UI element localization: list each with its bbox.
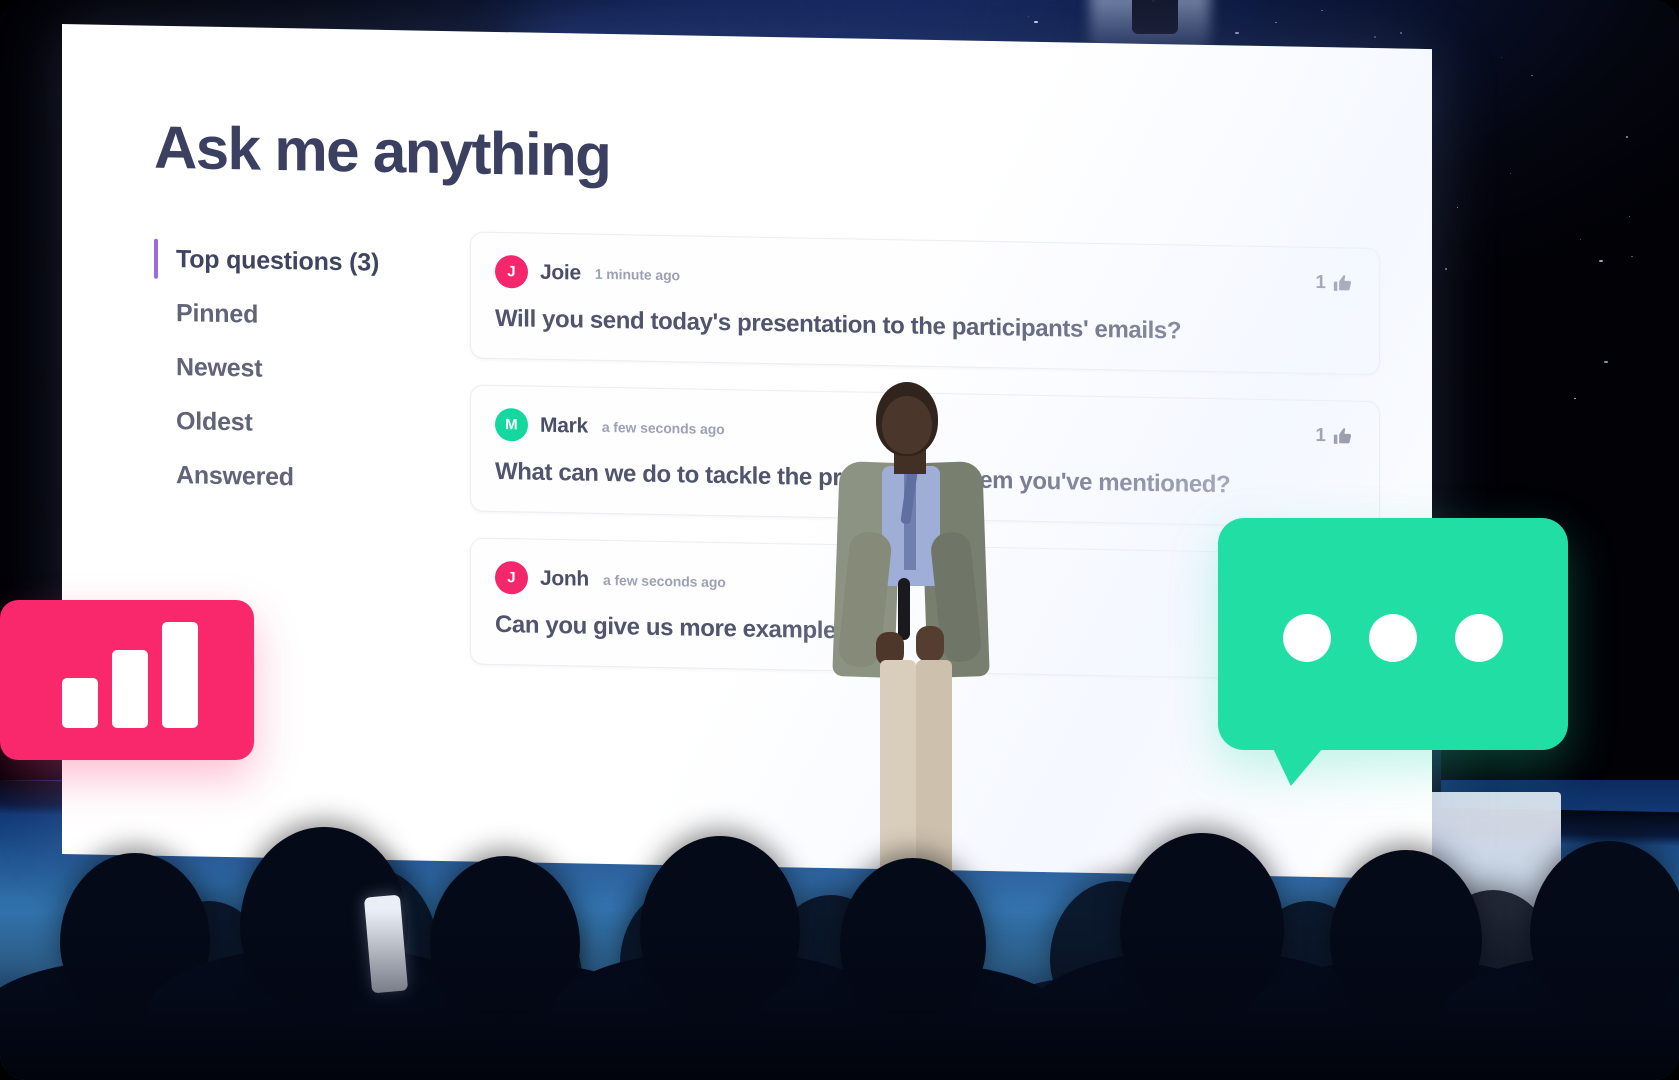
star	[1510, 173, 1511, 174]
star	[1374, 36, 1376, 37]
bar-chart-badge[interactable]	[0, 600, 254, 760]
chart-bar	[162, 622, 198, 728]
avatar: M	[495, 408, 528, 442]
star	[1034, 21, 1038, 23]
star	[1531, 75, 1533, 76]
filter-item-pinned[interactable]: Pinned	[154, 286, 414, 345]
upvote-count: 1	[1315, 272, 1326, 294]
upvote-button[interactable]: 1	[1315, 272, 1353, 295]
speaker-hand-right	[916, 626, 944, 662]
foreground-shadow	[0, 910, 1679, 1080]
star	[1457, 207, 1459, 208]
projection-screen: Ask me anything Top questions (3)PinnedN…	[62, 24, 1432, 879]
filter-item-label: Newest	[176, 353, 262, 384]
screenshot-stage: Ask me anything Top questions (3)PinnedN…	[0, 0, 1679, 1080]
chat-bubble-badge[interactable]	[1218, 518, 1568, 750]
question-timestamp: 1 minute ago	[595, 265, 680, 283]
filter-item-top-questions-3[interactable]: Top questions (3)	[154, 232, 414, 291]
avatar: J	[495, 561, 528, 595]
filter-item-label: Oldest	[176, 407, 253, 437]
star	[1028, 16, 1029, 17]
star	[1631, 256, 1633, 257]
question-header: JJoie1 minute ago	[495, 255, 1353, 304]
upvote-button[interactable]: 1	[1315, 425, 1353, 448]
page-title: Ask me anything	[154, 118, 1432, 201]
chat-bubble-typing-icon	[1218, 614, 1568, 662]
question-card[interactable]: JJoie1 minute agoWill you send today's p…	[470, 231, 1380, 375]
filter-item-oldest[interactable]: Oldest	[154, 394, 414, 453]
star	[1599, 260, 1602, 262]
star	[1275, 22, 1277, 23]
chart-bar	[112, 650, 148, 728]
star	[1400, 32, 1402, 33]
question-timestamp: a few seconds ago	[603, 571, 726, 589]
filter-item-newest[interactable]: Newest	[154, 340, 414, 399]
ceiling-rig-icon	[1132, 0, 1178, 34]
star	[1574, 398, 1576, 399]
filter-item-answered[interactable]: Answered	[154, 448, 414, 507]
question-author: Jonh	[540, 566, 589, 591]
filter-item-label: Top questions (3)	[176, 245, 379, 278]
typing-dot	[1283, 614, 1331, 662]
bar-chart-icon	[62, 622, 198, 728]
star	[1445, 268, 1447, 269]
star	[1235, 32, 1239, 34]
star	[1501, 57, 1502, 58]
star	[1626, 136, 1628, 137]
speaker-face	[882, 396, 932, 454]
upvote-count: 1	[1315, 425, 1326, 447]
slide-content: Ask me anything Top questions (3)PinnedN…	[62, 24, 1432, 879]
microphone-icon	[898, 578, 910, 640]
star	[1629, 216, 1630, 217]
question-author: Mark	[540, 413, 588, 438]
star	[1580, 239, 1581, 240]
avatar: J	[495, 255, 528, 289]
filter-item-label: Answered	[176, 461, 294, 492]
typing-dot	[1455, 614, 1503, 662]
filter-item-label: Pinned	[176, 299, 258, 330]
star	[1321, 10, 1323, 11]
question-author: Joie	[540, 260, 581, 285]
typing-dot	[1369, 614, 1417, 662]
question-timestamp: a few seconds ago	[602, 418, 725, 436]
chart-bar	[62, 678, 98, 728]
thumbs-up-icon	[1333, 273, 1353, 293]
question-filter-rail: Top questions (3)PinnedNewestOldestAnswe…	[154, 226, 414, 664]
thumbs-up-icon	[1333, 426, 1353, 446]
question-text: Will you send today's presentation to th…	[495, 304, 1353, 350]
star	[1604, 361, 1607, 363]
